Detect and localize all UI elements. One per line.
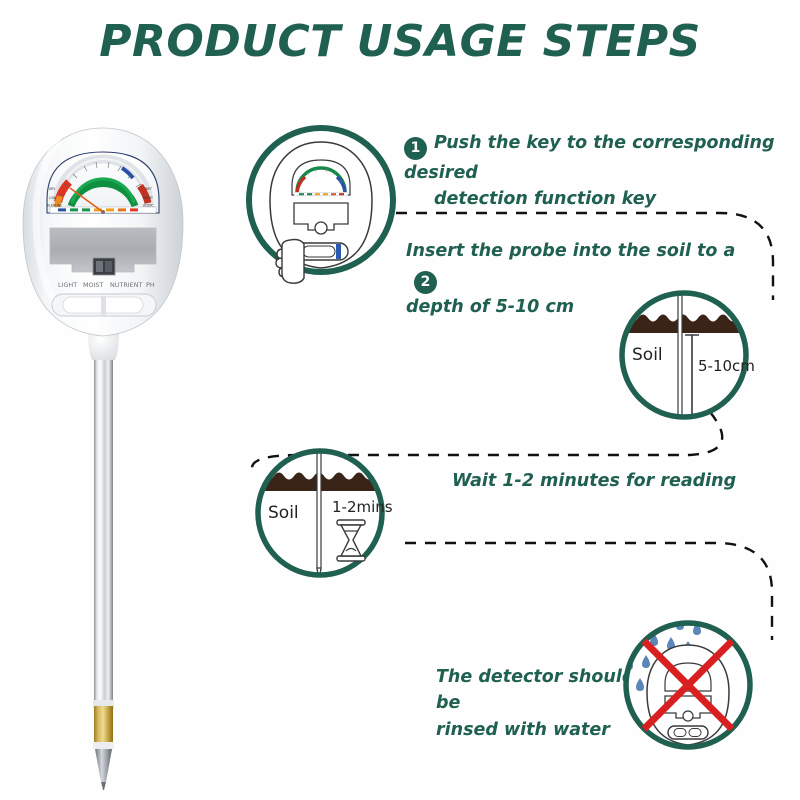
hourglass-icon	[337, 520, 365, 561]
page-title: PRODUCT USAGE STEPS	[0, 16, 800, 67]
device-display	[294, 203, 348, 230]
step-1-line-2: detection function key	[434, 189, 656, 209]
step-3-time-label: 1-2mins	[332, 498, 393, 516]
device-outline	[270, 142, 372, 268]
step-4-line-2: rinsed with water	[436, 720, 610, 740]
label-nutrient: NUTRIENT	[110, 281, 143, 289]
product-function-labels: LIGHT MOIST NUTRIENT PH	[58, 281, 155, 289]
depth-dimension	[685, 335, 699, 420]
dial-label-low: LOW	[49, 196, 56, 200]
slider-indicator	[336, 244, 341, 259]
step-1-illustration	[249, 128, 393, 283]
step-1-line-1: Push the key to the corresponding desire…	[404, 133, 775, 183]
dial-label-acidic: ACIDIC	[143, 203, 154, 207]
infographic-canvas: PRODUCT USAGE STEPS 1Push the key to the…	[0, 0, 800, 800]
step-3-line-1: Wait 1-2 minutes for reading	[452, 471, 736, 491]
device-slider	[296, 243, 348, 260]
step-3-text: Wait 1-2 minutes for reading	[452, 468, 782, 494]
dial-label-alkaline: ALKALINE	[47, 203, 62, 207]
label-ph: PH	[146, 281, 155, 289]
connector-3-4	[405, 543, 772, 640]
step-4-line-1: The detector should not be	[436, 667, 673, 713]
product-body	[23, 128, 183, 336]
product-photo: DRY LOW ALKALINE WET HIGHT ACIDIC LIGHT	[23, 128, 183, 790]
label-light: LIGHT	[58, 281, 77, 289]
step-2-line-1: Insert the probe into the soil to a	[406, 241, 735, 261]
soil-surface	[254, 473, 388, 491]
step-2-soil-label: Soil	[632, 345, 663, 365]
step-1-badge: 1	[404, 137, 427, 160]
product-slider-switch	[52, 294, 156, 316]
product-probe	[93, 355, 114, 790]
probe-rod	[317, 448, 321, 570]
step-2-depth-label: 5-10cm	[698, 357, 755, 375]
step-3-illustration: Soil 1-2mins	[254, 448, 393, 580]
step-2-badge: 2	[414, 271, 437, 294]
dial-label-hight: HIGHT	[143, 196, 153, 200]
step-4-text: The detector should not be rinsed with w…	[436, 664, 686, 743]
step-2-text: Insert the probe into the soil to a2 dep…	[406, 238, 766, 321]
step-3-soil-label: Soil	[268, 503, 299, 523]
dial-label-wet: WET	[145, 187, 152, 191]
body-highlight	[36, 140, 70, 320]
label-moist: MOIST	[83, 281, 103, 289]
dial-label-dry: DRY	[49, 187, 55, 191]
connector-2-3	[252, 412, 722, 468]
product-neck	[88, 330, 119, 360]
hand-icon	[276, 240, 304, 284]
product-display	[50, 228, 156, 275]
step-1-text: 1Push the key to the corresponding desir…	[404, 130, 796, 213]
step-2-line-2: depth of 5-10 cm	[406, 297, 574, 317]
product-dial: DRY LOW ALKALINE WET HIGHT ACIDIC	[47, 152, 159, 214]
